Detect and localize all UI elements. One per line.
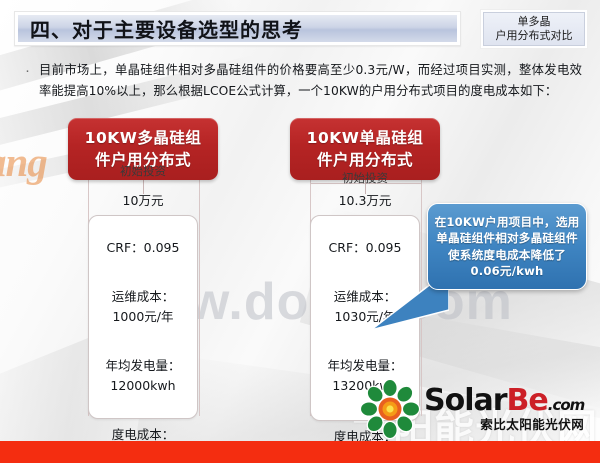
card-item-crf: CRF：0.095: [95, 238, 191, 257]
corner-tag-line2: 户用分布式对比: [496, 29, 573, 43]
page-title: 四、对于主要设备选型的思考: [18, 14, 303, 43]
card-item-value: 12000kwh: [95, 376, 191, 395]
corner-tag-inner: 单多晶 户用分布式对比: [483, 12, 585, 46]
solarbe-logo: SolarBe.com 索比太阳能光伏网: [360, 378, 596, 440]
card-item-key: 年均发电量：: [317, 356, 413, 375]
slide-title-frame: 四、对于主要设备选型的思考: [14, 11, 461, 46]
card-item-om-cost: 运维成本： 1000元/年: [95, 287, 191, 326]
investment-value: 10万元: [54, 190, 232, 209]
logo-brand: SolarBe.com: [424, 386, 584, 416]
corner-tag-line1: 单多晶: [518, 15, 551, 29]
column-polysilicon: 10KW多晶硅组 件户用分布式 初始投资 10万元 CRF：0.095 运维成本…: [54, 118, 232, 443]
investment-label: 初始投资: [54, 163, 232, 179]
card-item-key: CRF：0.095: [317, 238, 413, 257]
logo-brand-part1: Solar: [424, 383, 507, 418]
bullet-marker: ·: [22, 60, 39, 102]
logo-brand-suffix: .com: [548, 396, 585, 414]
corner-tag: 单多晶 户用分布式对比: [480, 9, 588, 49]
card-item-key: 年均发电量：: [95, 356, 191, 375]
bullet-text: 目前市场上，单晶硅组件相对多晶硅组件的价格要高至少0.3元/W，而经过项目实测，…: [39, 60, 582, 102]
card-item-annual-generation: 年均发电量： 12000kwh: [95, 356, 191, 395]
slide-title-bar: 四、对于主要设备选型的思考: [18, 15, 457, 42]
logo-wordmark: SolarBe.com 索比太阳能光伏网: [424, 386, 584, 432]
callout-bubble: 在10KW户用项目中，选用单晶硅组件相对多晶硅组件使系统度电成本降低了0.06元…: [427, 203, 587, 290]
slide-canvas: ang www.docin.com 太阳能光伏网 四、对于主要设备选型的思考 单…: [0, 0, 600, 463]
column-header-line1: 10KW单晶硅组: [307, 127, 424, 149]
card-item-key: CRF：0.095: [95, 238, 191, 257]
detail-card-polysilicon: CRF：0.095 运维成本： 1000元/年 年均发电量： 12000kwh: [88, 215, 198, 419]
flower-icon: [360, 379, 420, 439]
callout-text: 在10KW户用项目中，选用单晶硅组件相对多晶硅组件使系统度电成本降低了0.06元…: [428, 214, 586, 280]
investment-label: 初始投资: [276, 170, 454, 186]
logo-subtitle: 索比太阳能光伏网: [424, 419, 584, 432]
logo-brand-part2: Be: [507, 383, 548, 418]
investment-value: 10.3万元: [276, 190, 454, 209]
card-item-value: 1000元/年: [95, 307, 191, 326]
card-item-crf: CRF：0.095: [317, 238, 413, 257]
bottom-red-bar: [0, 441, 600, 463]
column-header-line1: 10KW多晶硅组: [85, 127, 202, 149]
card-item-key: 运维成本：: [95, 287, 191, 306]
bullet-paragraph: · 目前市场上，单晶硅组件相对多晶硅组件的价格要高至少0.3元/W，而经过项目实…: [22, 60, 582, 102]
column-header-line2: 件户用分布式: [317, 149, 413, 171]
watermark-left: ang: [0, 138, 47, 186]
